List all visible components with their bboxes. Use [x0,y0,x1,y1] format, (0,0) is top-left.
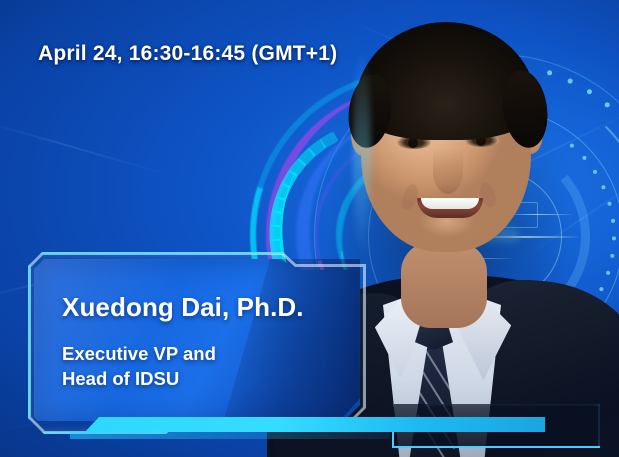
event-datetime-headline: April 24, 16:30-16:45 (GMT+1) [38,42,337,66]
accent-bar-secondary [70,432,390,439]
speaker-role-line-2: Head of IDSU [62,366,216,391]
accent-bar-icon [85,417,545,432]
banner-canvas: April 24, 16:30-16:45 (GMT+1) Xuedong Da… [0,0,619,457]
speaker-role: Executive VP and Head of IDSU [62,341,216,391]
speaker-role-line-1: Executive VP and [62,341,216,366]
speaker-name: Xuedong Dai, Ph.D. [62,292,304,323]
